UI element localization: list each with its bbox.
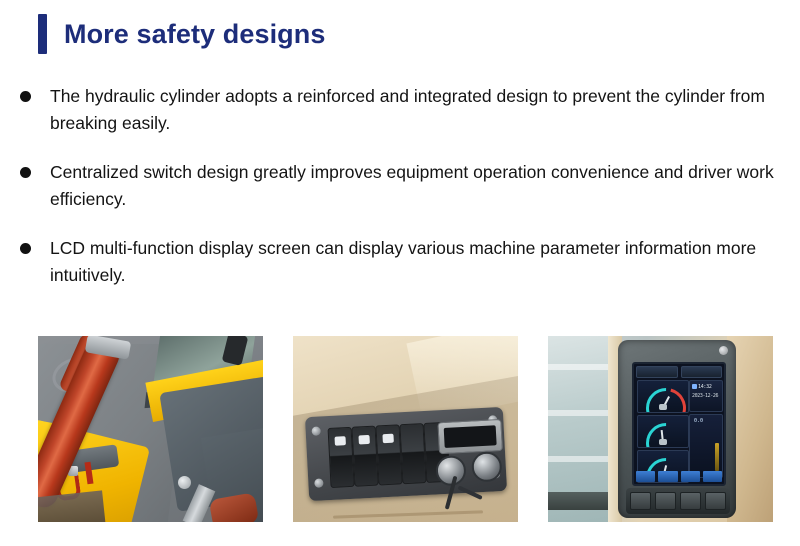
lcd-softkey[interactable]: [703, 471, 722, 482]
bullet-dot-icon: [20, 243, 31, 254]
list-item: The hydraulic cylinder adopts a reinforc…: [20, 83, 782, 137]
bullet-text: LCD multi-function display screen can di…: [50, 235, 782, 289]
lcd-softkey[interactable]: [681, 471, 700, 482]
lcd-fuel-bar: [715, 443, 719, 471]
clock-icon: [692, 384, 697, 389]
lcd-status-right: [681, 366, 723, 378]
switch-panel-photo: [293, 336, 518, 522]
lcd-screen[interactable]: 14:32 2023-12-26 0.0: [632, 362, 726, 486]
list-item: LCD multi-function display screen can di…: [20, 235, 782, 289]
heading-accent-bar: [38, 14, 47, 54]
page-title: More safety designs: [64, 14, 326, 54]
slide-page: More safety designs The hydraulic cylind…: [0, 0, 800, 546]
lcd-gauge: [637, 415, 689, 448]
lcd-softkey[interactable]: [658, 471, 677, 482]
rocker-switch[interactable]: [328, 427, 355, 488]
lcd-time: 14:32: [698, 384, 712, 390]
lcd-hardkey[interactable]: [705, 492, 726, 510]
rocker-switch[interactable]: [375, 424, 402, 485]
lcd-info-column: 14:32 2023-12-26 0.0: [689, 380, 721, 478]
lcd-gauge: [637, 380, 689, 413]
lcd-display-photo: 14:32 2023-12-26 0.0: [548, 336, 773, 522]
lcd-status-bar: [636, 366, 722, 378]
photo-gallery: 14:32 2023-12-26 0.0: [38, 336, 773, 522]
rocker-switch[interactable]: [352, 426, 379, 487]
lcd-hardkey-row: [626, 488, 730, 514]
lcd-hardkey[interactable]: [630, 492, 651, 510]
lcd-status-left: [636, 366, 678, 378]
lcd-fuel-panel: 0.0: [689, 414, 723, 478]
hydraulic-cylinder-photo: [38, 336, 263, 522]
lcd-gauge-column: [637, 380, 687, 485]
feature-bullet-list: The hydraulic cylinder adopts a reinforc…: [20, 83, 782, 311]
bullet-text: The hydraulic cylinder adopts a reinforc…: [50, 83, 782, 137]
rocker-switch[interactable]: [399, 423, 426, 484]
bullet-dot-icon: [20, 167, 31, 178]
lcd-clock: 14:32 2023-12-26: [689, 380, 723, 412]
page-heading: More safety designs: [38, 14, 326, 54]
lcd-date: 2023-12-26: [692, 393, 718, 399]
lcd-softkey[interactable]: [636, 471, 655, 482]
bullet-text: Centralized switch design greatly improv…: [50, 159, 782, 213]
lcd-hardkey[interactable]: [655, 492, 676, 510]
list-item: Centralized switch design greatly improv…: [20, 159, 782, 213]
lcd-softkey-bar: [636, 471, 722, 482]
panel-display: [437, 419, 503, 454]
lcd-fuel-value: 0.0: [694, 418, 703, 424]
lcd-hardkey[interactable]: [680, 492, 701, 510]
bullet-dot-icon: [20, 91, 31, 102]
